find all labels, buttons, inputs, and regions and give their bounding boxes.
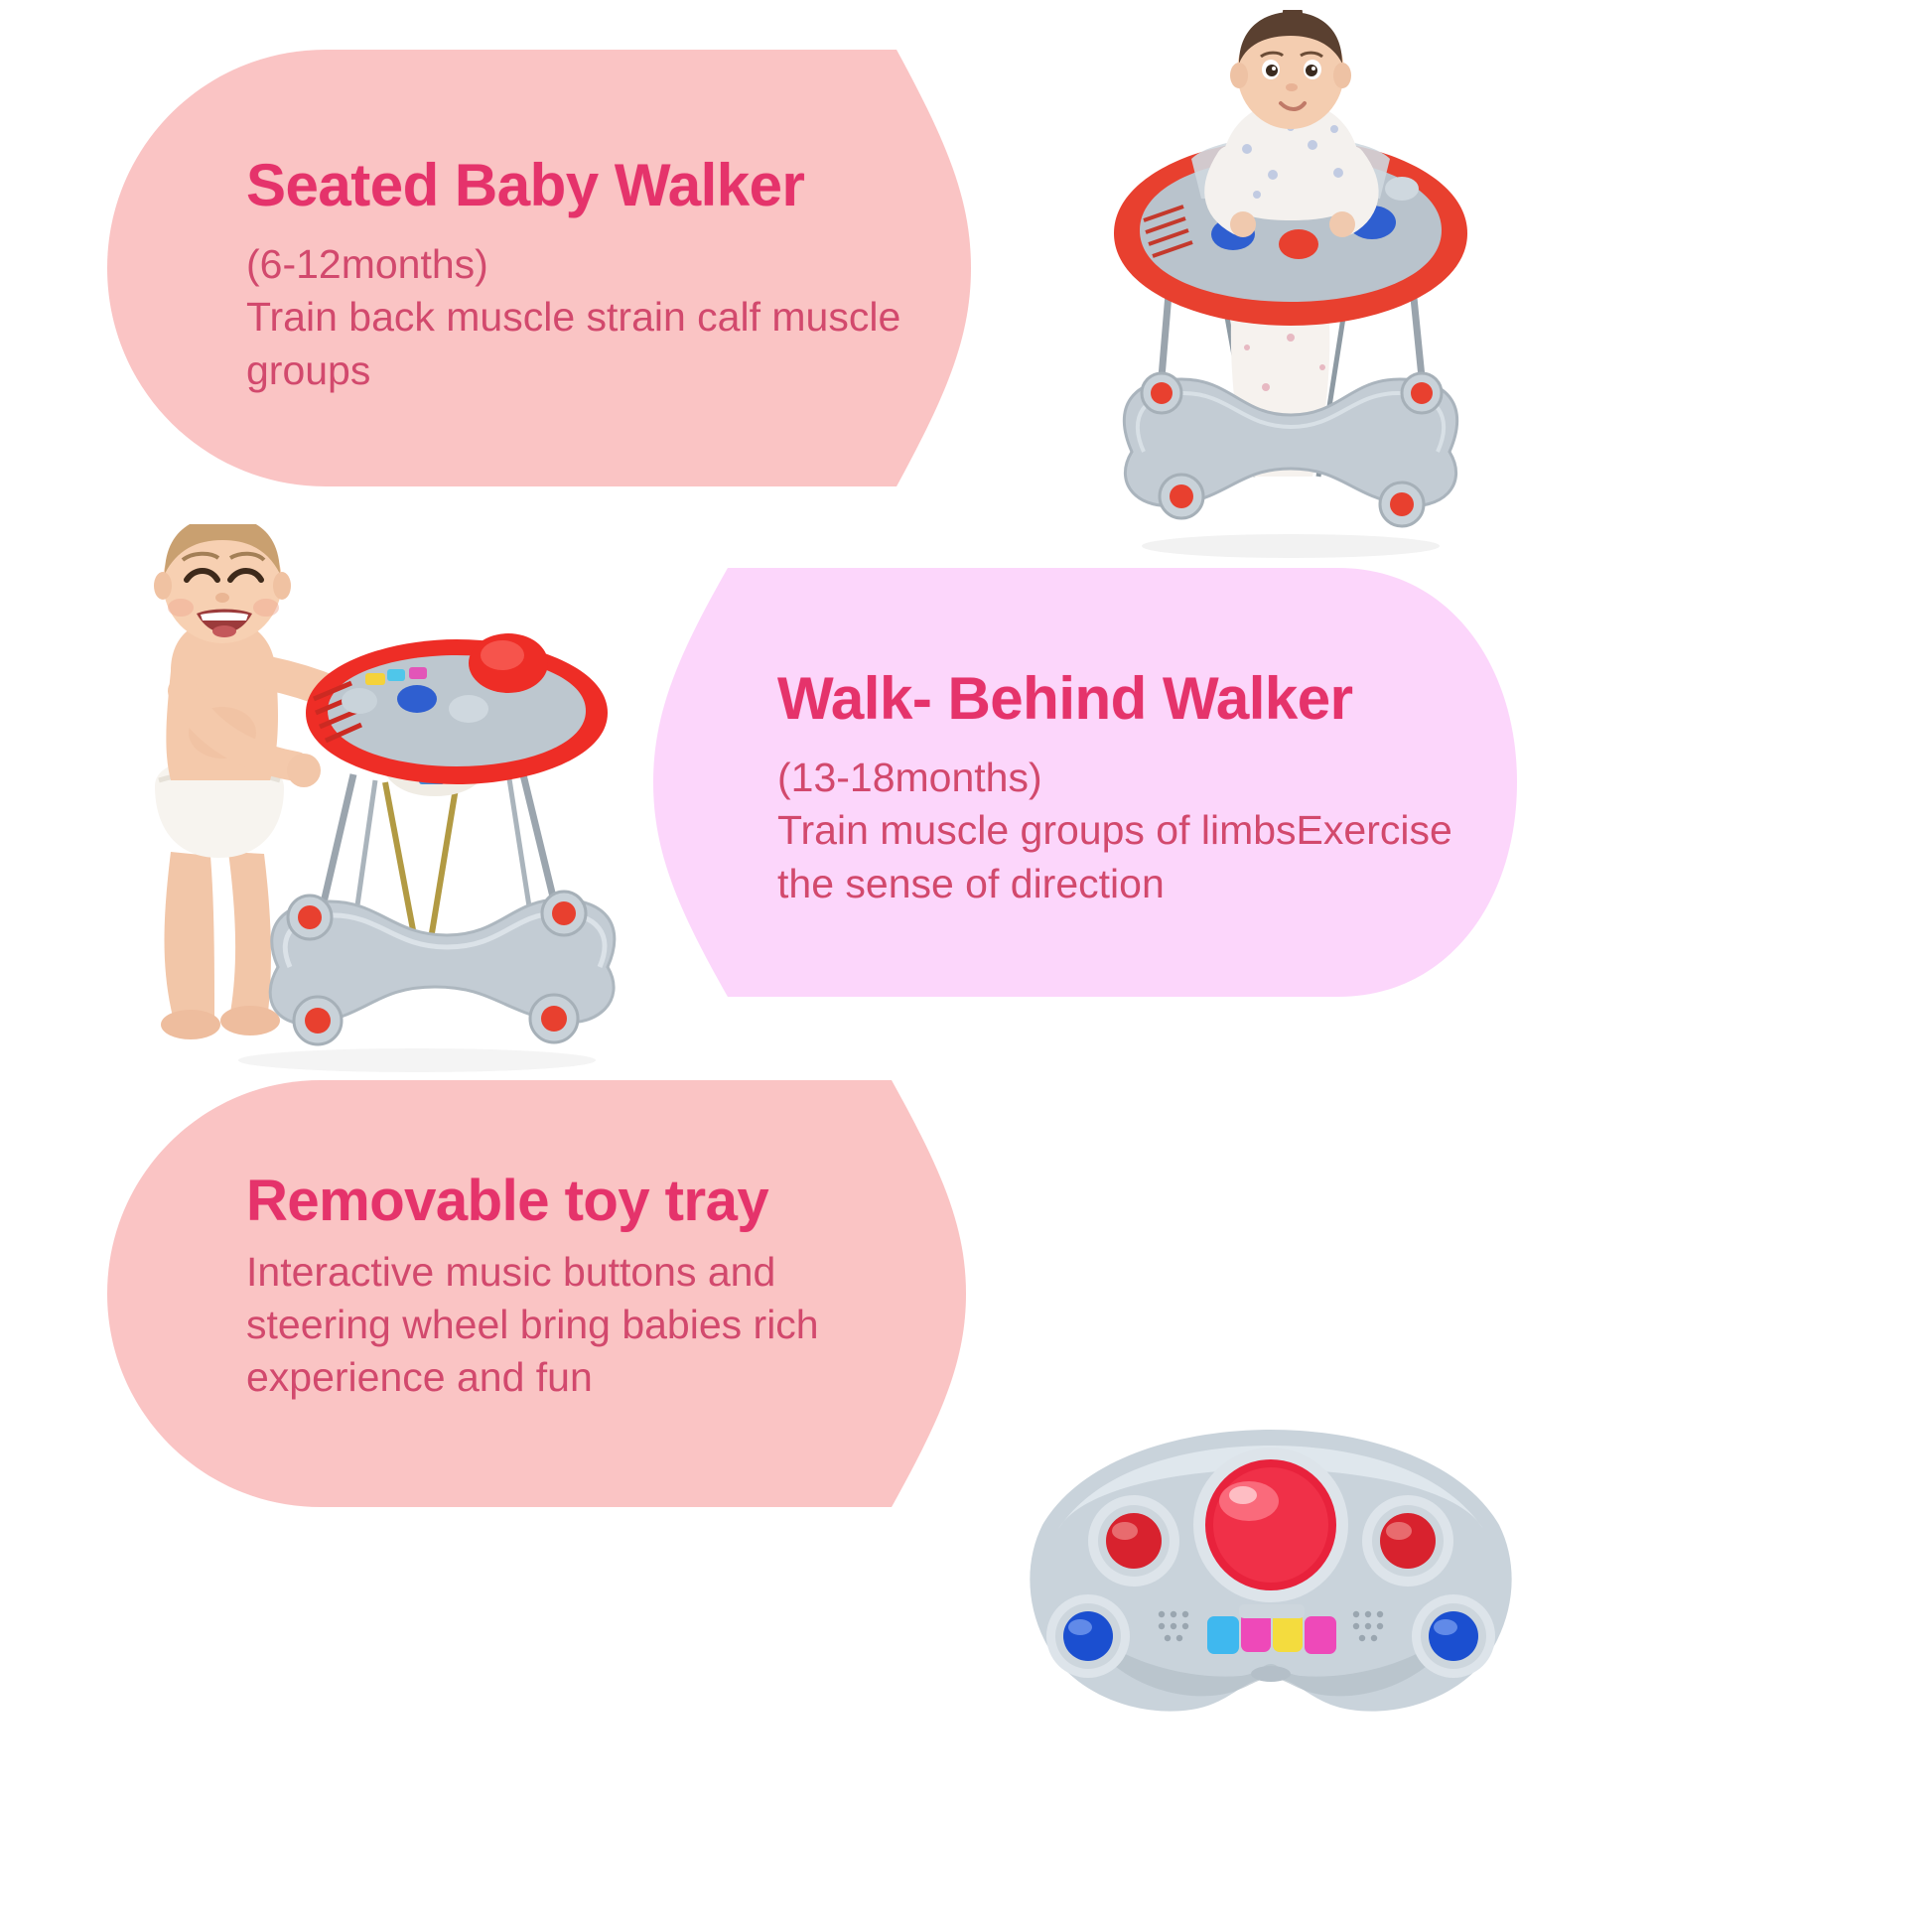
feature-body-2: Train muscle groups of limbsExercise the… bbox=[777, 804, 1462, 910]
feature-text-block-3: Removable toy tray Interactive music but… bbox=[246, 1172, 901, 1405]
feature-title-3: Removable toy tray bbox=[246, 1172, 901, 1232]
feature-body-3: Interactive music buttons and steering w… bbox=[246, 1246, 862, 1405]
product-photo-walk-behind-walker bbox=[119, 524, 635, 1080]
feature-title-1: Seated Baby Walker bbox=[246, 154, 941, 216]
feature-panel-walk-behind-walker: Walk- Behind Walker (13-18months) Train … bbox=[623, 568, 1517, 997]
infographic-canvas: Seated Baby Walker (6-12months) Train ba… bbox=[0, 0, 1932, 1932]
feature-panel-removable-toy-tray: Removable toy tray Interactive music but… bbox=[107, 1080, 1040, 1507]
feature-text-block-2: Walk- Behind Walker (13-18months) Train … bbox=[777, 667, 1472, 910]
product-photo-seated-baby-walker bbox=[1052, 10, 1519, 566]
feature-text-block-1: Seated Baby Walker (6-12months) Train ba… bbox=[246, 154, 941, 397]
feature-age-2: (13-18months) bbox=[777, 752, 1472, 804]
product-photo-removable-toy-tray bbox=[1013, 1430, 1529, 1727]
feature-body-1: Train back muscle strain calf muscle gro… bbox=[246, 291, 931, 397]
feature-age-1: (6-12months) bbox=[246, 238, 941, 291]
feature-panel-seated-baby-walker: Seated Baby Walker (6-12months) Train ba… bbox=[107, 50, 1040, 486]
feature-title-2: Walk- Behind Walker bbox=[777, 667, 1472, 730]
